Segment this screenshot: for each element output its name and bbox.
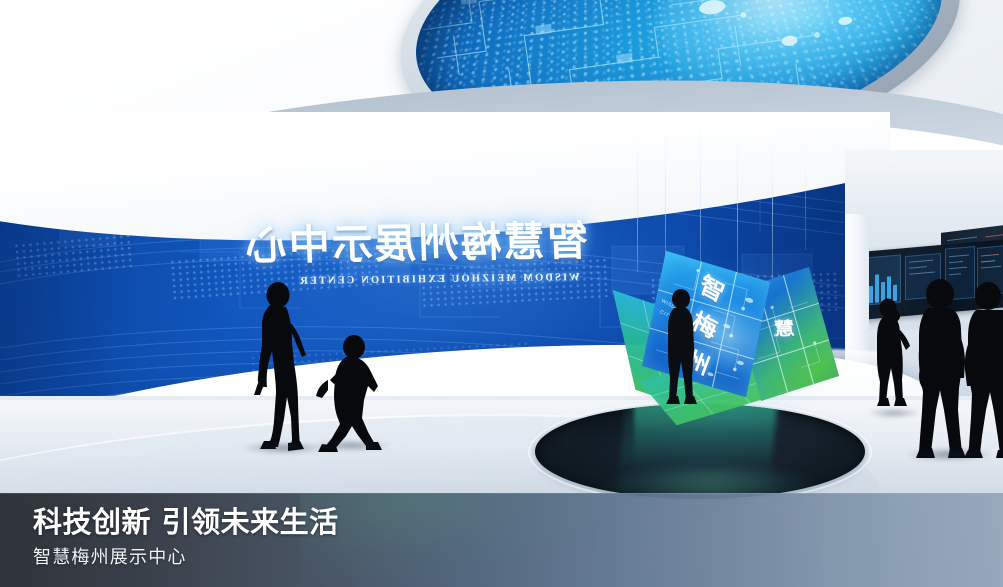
figure-shadow (312, 440, 390, 451)
caption-tint-right (773, 493, 1003, 587)
rotating-display-cube: 慧 (628, 252, 798, 422)
suspension-cable (700, 115, 701, 265)
visitor-silhouette-child (316, 334, 386, 452)
caption-title: 科技创新 引领未来生活 (33, 506, 339, 538)
caption-text-block: 科技创新 引领未来生活 智慧梅州展示中心 (33, 506, 339, 569)
suspension-cable (637, 122, 638, 272)
figure-shadow (868, 408, 920, 418)
caption-tint-center (300, 493, 620, 587)
figure-shadow (906, 448, 992, 461)
visitor-silhouette-right-edge (960, 282, 1003, 458)
exhibition-center-render: 智慧梅州展示中心 WISDOM MEIZHOU EXHIBITION CENTE… (0, 0, 1003, 587)
suspension-cable (805, 130, 806, 250)
suspension-cable (737, 118, 738, 274)
caption-subtitle: 智慧梅州展示中心 (33, 543, 339, 569)
visitor-silhouette-at-display (872, 296, 912, 416)
suspension-cable (665, 118, 666, 264)
visitor-silhouette-behind-cube (662, 288, 700, 408)
caption-bar: 科技创新 引领未来生活 智慧梅州展示中心 (0, 493, 1003, 587)
visitor-silhouette-woman (248, 281, 312, 451)
